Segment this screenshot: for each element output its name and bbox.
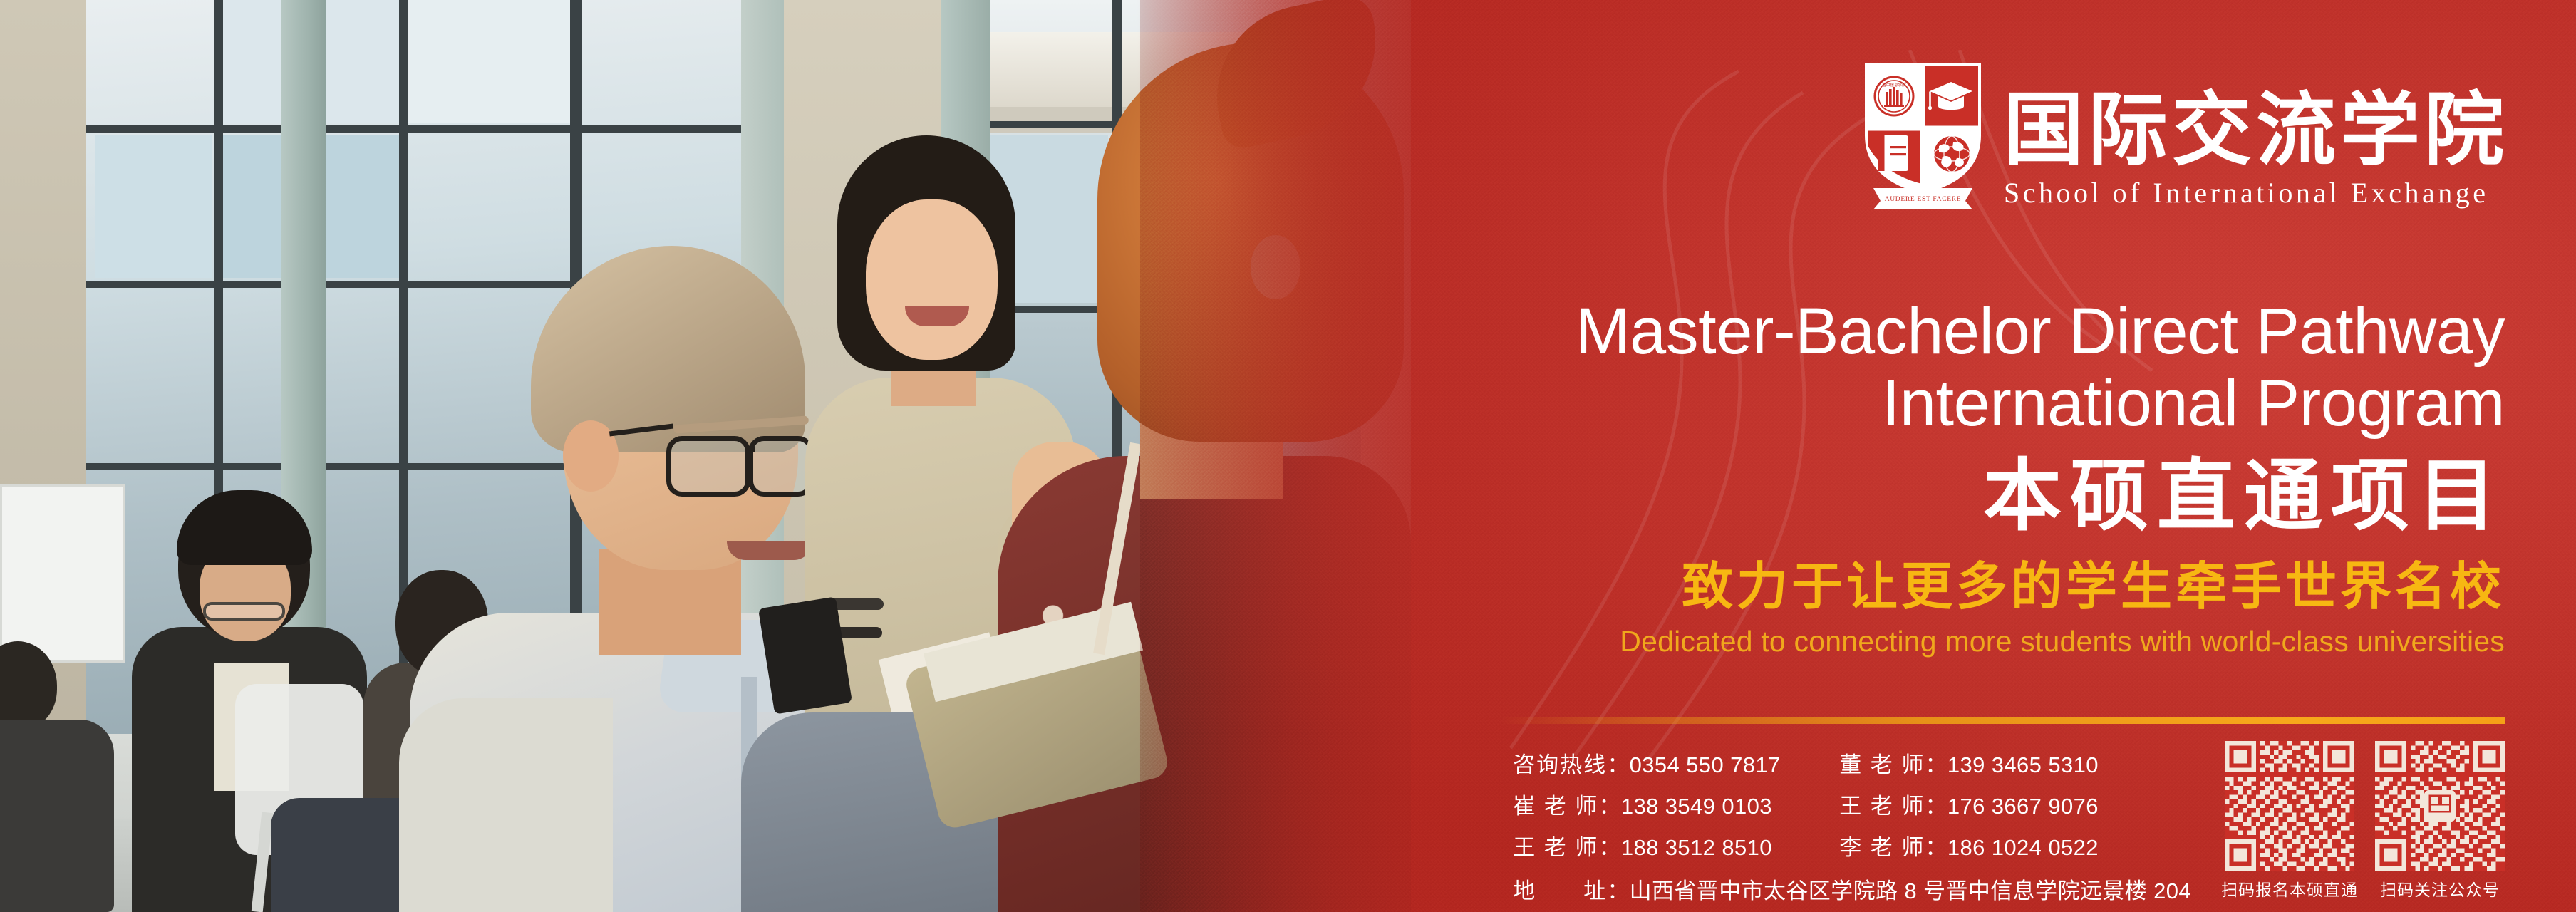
- photo-student-khaki: [866, 199, 998, 360]
- contact-address: 地 址：山西省晋中市太谷区学院路 8 号晋中信息学院远景楼 204: [1513, 873, 2191, 905]
- contact-label: 李 老 师: [1839, 835, 1925, 860]
- qr-follow-official-account[interactable]: 扫码关注公众号: [2375, 741, 2505, 901]
- contact-hotline: 咨询热线：0354 550 7817: [1513, 747, 1778, 779]
- logo-chinese-name: 国际交流学院: [2004, 90, 2508, 172]
- qr-center-logo: [2424, 790, 2456, 822]
- subtitle-chinese: 致力于让更多的学生牵手世界名校: [1576, 558, 2505, 616]
- contact-value: 139 3465 5310: [1947, 752, 2099, 777]
- contact-value: 186 1024 0522: [1947, 835, 2099, 860]
- qr-code-image[interactable]: [2375, 741, 2505, 871]
- contact-list: 咨询热线：0354 550 7817 董 老 师：139 3465 5310 崔…: [1513, 741, 2191, 905]
- contact-teacher-li: 李 老 师：186 1024 0522: [1839, 829, 2099, 861]
- logo-text-block: 国际交流学院 School of International Exchange: [2004, 90, 2508, 209]
- qr-caption: 扫码关注公众号: [2380, 876, 2500, 901]
- contact-teacher-wang-1: 王 老 师：176 3667 9076: [1839, 788, 2099, 820]
- contact-row: 王 老 师：188 3512 8510 李 老 师：186 1024 0522: [1513, 829, 2191, 861]
- photo-student-khaki: [905, 306, 969, 326]
- subtitle-english: Dedicated to connecting more students wi…: [1576, 625, 2505, 658]
- crest-motto: AUDERE EST FACERE: [1885, 196, 1962, 203]
- promo-banner: 晋中信息学院: [0, 0, 2576, 912]
- footer-block: 咨询热线：0354 550 7817 董 老 师：139 3465 5310 崔…: [1513, 741, 2505, 905]
- photo-professor: [399, 698, 613, 912]
- address-label: 地 址: [1513, 879, 1607, 903]
- contact-teacher-cui: 崔 老 师：138 3549 0103: [1513, 788, 1778, 820]
- contact-value: 188 3512 8510: [1621, 835, 1772, 860]
- photo-eyeglasses: [745, 447, 755, 452]
- banner-content: 晋中信息学院: [1140, 0, 2576, 912]
- contact-value: 0354 550 7817: [1630, 752, 1781, 777]
- photo-window-mullion: [86, 125, 748, 133]
- headline-english-line1: Master-Bachelor Direct Pathway: [1576, 296, 2505, 368]
- contact-label: 董 老 师: [1839, 752, 1925, 777]
- contact-label: 崔 老 师: [1513, 794, 1598, 819]
- contact-row: 崔 老 师：138 3549 0103 王 老 师：176 3667 9076: [1513, 788, 2191, 820]
- photo-window-pane: [95, 135, 212, 278]
- qr-code-group: 扫码报名本硕直通: [2221, 741, 2505, 901]
- photo-phone: [758, 596, 852, 714]
- contact-value: 138 3549 0103: [1621, 794, 1772, 819]
- photo-whiteboard: [0, 484, 125, 663]
- photo-eyeglasses: [666, 436, 750, 497]
- photo-eyeglasses: [748, 436, 814, 497]
- contact-label: 王 老 师: [1839, 794, 1925, 819]
- contact-teacher-wang-2: 王 老 师：188 3512 8510: [1513, 829, 1778, 861]
- qr-caption: 扫码报名本硕直通: [2221, 876, 2358, 901]
- photo-eyeglasses: [203, 602, 285, 621]
- contact-label: 咨询热线: [1513, 752, 1607, 777]
- logo-english-name: School of International Exchange: [2004, 176, 2488, 209]
- photo-window-pane: [408, 0, 570, 123]
- photo-background-person: [0, 720, 114, 912]
- gold-divider: [1500, 717, 2505, 724]
- photo-professor: [727, 541, 812, 560]
- school-crest-icon: 晋中信息学院: [1861, 58, 1985, 209]
- headline-english-line2: International Program: [1576, 368, 2505, 440]
- school-logo: 晋中信息学院: [1861, 58, 2508, 209]
- contact-row: 咨询热线：0354 550 7817 董 老 师：139 3465 5310: [1513, 747, 2191, 779]
- qr-code-image[interactable]: [2225, 741, 2354, 871]
- crest-ribbon: AUDERE EST FACERE: [1873, 188, 1972, 209]
- headline-block: Master-Bachelor Direct Pathway Internati…: [1576, 296, 2505, 658]
- svg-text:晋中信息学院: 晋中信息学院: [1882, 82, 1906, 88]
- contact-value: 176 3667 9076: [1947, 794, 2099, 819]
- contact-teacher-dong: 董 老 师：139 3465 5310: [1839, 747, 2099, 779]
- contact-label: 王 老 师: [1513, 835, 1598, 860]
- address-value: 山西省晋中市太谷区学院路 8 号晋中信息学院远景楼 204: [1630, 879, 2191, 903]
- headline-chinese-title: 本硕直通项目: [1576, 451, 2505, 542]
- qr-signup[interactable]: 扫码报名本硕直通: [2221, 741, 2358, 901]
